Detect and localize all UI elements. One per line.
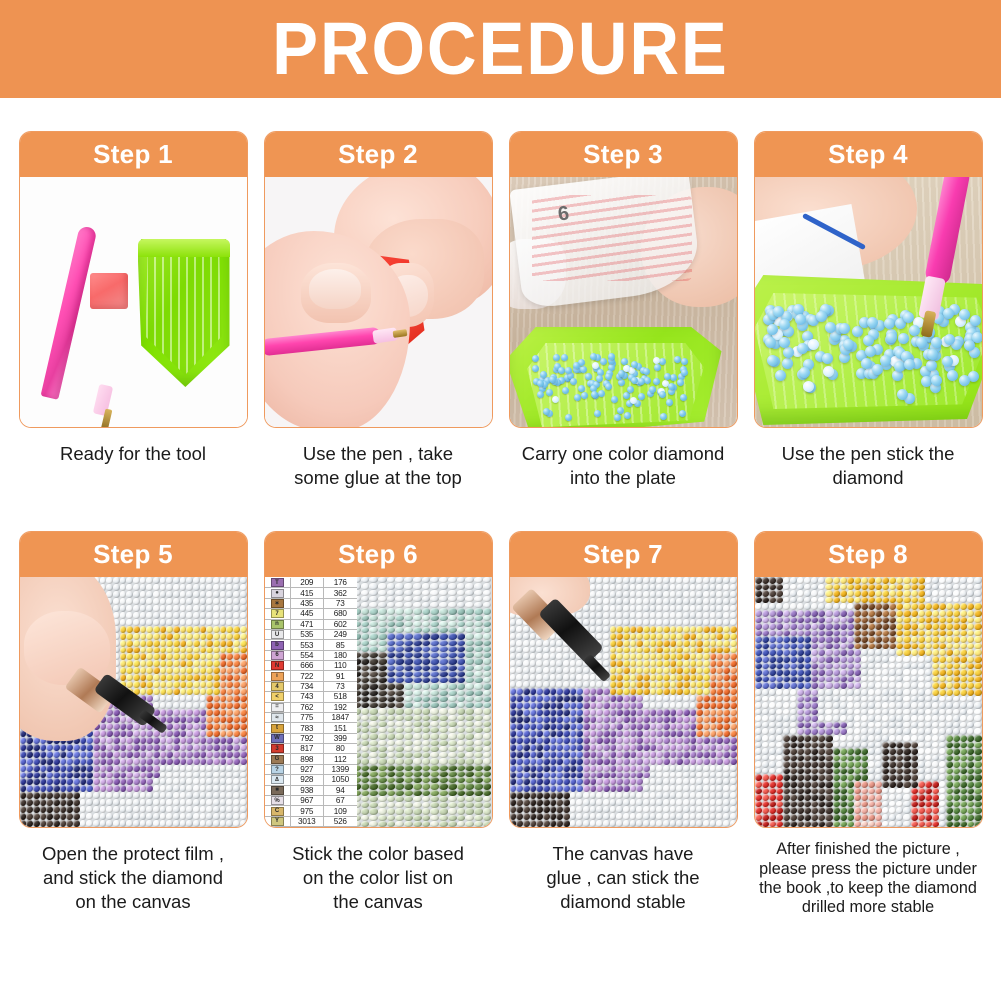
step-1-photo <box>20 177 247 427</box>
legend-count-cell: 109 <box>324 806 357 815</box>
step-2-caption: Use the pen , take some glue at the top <box>264 442 492 490</box>
step-4-header-label: Step 4 <box>828 139 908 170</box>
step-3-card: Step 3 6 <box>509 131 738 428</box>
legend-count-cell: 94 <box>324 786 357 795</box>
legend-row: ≈7751847 <box>265 713 357 723</box>
step-7-caption: The canvas have glue , can stick the dia… <box>509 842 737 914</box>
step-card-2: Step 2 Use the pen , <box>256 131 501 490</box>
legend-symbol-cell: G <box>265 754 291 763</box>
legend-count-cell: 180 <box>324 651 357 660</box>
legend-count-cell: 176 <box>324 578 357 587</box>
step-7-header-label: Step 7 <box>583 539 663 570</box>
legend-row: G898112 <box>265 754 357 764</box>
legend-code-cell: 743 <box>291 692 325 701</box>
page-title: PROCEDURE <box>272 12 728 86</box>
finger-icon <box>24 611 110 685</box>
legend-symbol-cell: T <box>265 578 291 587</box>
legend-symbol-cell: Y <box>265 817 291 826</box>
step-2-photo <box>265 177 492 427</box>
legend-code-cell: 553 <box>291 640 325 649</box>
legend-count-cell: 73 <box>324 599 357 608</box>
legend-code-cell: 927 <box>291 765 325 774</box>
step-1-header-label: Step 1 <box>93 139 173 170</box>
step-6-caption: Stick the color based on the color list … <box>264 842 492 914</box>
legend-symbol-cell: 7 <box>265 609 291 618</box>
pink-pen-icon <box>40 225 97 400</box>
legend-symbol-cell: ≈ <box>265 713 291 722</box>
legend-code-cell: 3013 <box>291 817 325 826</box>
bag-printed-text-icon <box>532 195 692 281</box>
legend-row: %96767 <box>265 796 357 806</box>
legend-row: ●415362 <box>265 588 357 598</box>
step-8-card: Step 8 <box>754 531 983 828</box>
legend-count-cell: 80 <box>324 744 357 753</box>
legend-code-cell: 975 <box>291 806 325 815</box>
step-7-header: Step 7 <box>510 532 737 577</box>
step-7-photo <box>510 577 737 827</box>
legend-symbol-cell: C <box>265 806 291 815</box>
glue-square-icon <box>90 273 128 309</box>
legend-count-cell: 151 <box>324 723 357 732</box>
step-5-photo <box>20 577 247 827</box>
legend-row: 6554180 <box>265 651 357 661</box>
step-6-header: Step 6 <box>265 532 492 577</box>
step-2-header: Step 2 <box>265 132 492 177</box>
tray-grooves-icon <box>755 293 982 409</box>
step-3-header-label: Step 3 <box>583 139 663 170</box>
legend-row: ?9271399 <box>265 765 357 775</box>
legend-row: ∆9281050 <box>265 775 357 785</box>
legend-code-cell: 209 <box>291 578 325 587</box>
legend-code-cell: 722 <box>291 671 325 680</box>
step-1-image <box>20 177 247 427</box>
legend-count-cell: 192 <box>324 703 357 712</box>
legend-symbol-cell: U <box>265 630 291 639</box>
step-4-image <box>755 177 982 427</box>
legend-row: ✶43573 <box>265 599 357 609</box>
step-6-card: Step 6 T209176●415362✶435737445680n47160… <box>264 531 493 828</box>
legend-row: ı72291 <box>265 671 357 681</box>
step-card-6: Step 6 T209176●415362✶435737445680n47160… <box>256 531 501 918</box>
legend-symbol-cell: ∆ <box>265 775 291 784</box>
legend-count-cell: 526 <box>324 817 357 826</box>
legend-code-cell: 792 <box>291 734 325 743</box>
step-8-photo <box>755 577 982 827</box>
legend-code-cell: 775 <box>291 713 325 722</box>
legend-symbol-cell: ● <box>265 588 291 597</box>
step-4-caption: Use the pen stick the diamond <box>754 442 982 490</box>
step-7-image <box>510 577 737 827</box>
legend-count-cell: 110 <box>324 661 357 670</box>
legend-row: Y3013526 <box>265 817 357 827</box>
legend-code-cell: 415 <box>291 588 325 597</box>
legend-symbol-cell: < <box>265 692 291 701</box>
legend-code-cell: 554 <box>291 651 325 660</box>
legend-count-cell: 249 <box>324 630 357 639</box>
legend-symbol-cell: b <box>265 640 291 649</box>
legend-row: b55385 <box>265 640 357 650</box>
legend-count-cell: 85 <box>324 640 357 649</box>
mosaic-canvas <box>755 577 982 827</box>
legend-count-cell: 91 <box>324 671 357 680</box>
legend-code-cell: 783 <box>291 723 325 732</box>
step-card-7: Step 7 The canvas have glue , can stick … <box>501 531 746 918</box>
legend-count-cell: 1399 <box>324 765 357 774</box>
step-6-image: T209176●415362✶435737445680n471602U53524… <box>265 577 492 827</box>
legend-count-cell: 518 <box>324 692 357 701</box>
legend-row: 7445680 <box>265 609 357 619</box>
step-card-3: Step 3 6 Carry one color diamond into th… <box>501 131 746 490</box>
bag-number-label: 6 <box>556 202 570 226</box>
legend-row: C975109 <box>265 806 357 816</box>
legend-symbol-cell: ■ <box>265 786 291 795</box>
legend-code-cell: 817 <box>291 744 325 753</box>
tray-grooves-icon <box>524 343 708 427</box>
step-4-photo <box>755 177 982 427</box>
step-1-card: Step 1 <box>19 131 248 428</box>
legend-symbol-cell: % <box>265 796 291 805</box>
legend-symbol-cell: 6 <box>265 651 291 660</box>
legend-count-cell: 67 <box>324 796 357 805</box>
page-header-banner: PROCEDURE <box>0 0 1001 98</box>
legend-code-cell: 928 <box>291 775 325 784</box>
step-8-caption: After finished the picture , please pres… <box>748 840 988 918</box>
legend-code-cell: 666 <box>291 661 325 670</box>
legend-count-cell: 602 <box>324 620 357 629</box>
legend-symbol-cell: ✶ <box>265 599 291 608</box>
step-3-image: 6 <box>510 177 737 427</box>
step-5-image <box>20 577 247 827</box>
step-5-caption: Open the protect film , and stick the di… <box>19 842 247 914</box>
step-2-header-label: Step 2 <box>338 139 418 170</box>
legend-row: 381780 <box>265 744 357 754</box>
step-card-5: Step 5 Open the protect film , and stick… <box>11 531 256 918</box>
step-2-card: Step 2 <box>264 131 493 428</box>
step-5-header: Step 5 <box>20 532 247 577</box>
legend-count-cell: 680 <box>324 609 357 618</box>
legend-symbol-cell: ı <box>265 671 291 680</box>
legend-code-cell: 435 <box>291 599 325 608</box>
steps-row-bottom: Step 5 Open the protect film , and stick… <box>0 531 1001 918</box>
color-legend-table: T209176●415362✶435737445680n471602U53524… <box>265 577 357 827</box>
step-2-image <box>265 177 492 427</box>
legend-code-cell: 967 <box>291 796 325 805</box>
step-3-photo: 6 <box>510 177 737 427</box>
legend-count-cell: 73 <box>324 682 357 691</box>
steps-row-top: Step 1 Ready for the tool Step 2 <box>0 131 1001 490</box>
step-7-card: Step 7 <box>509 531 738 828</box>
legend-symbol-cell: n <box>265 620 291 629</box>
legend-row: T209176 <box>265 578 357 588</box>
step-8-header-label: Step 8 <box>828 539 908 570</box>
step-card-8: Step 8 After finished the picture , plea… <box>746 531 991 918</box>
legend-symbol-cell: N <box>265 661 291 670</box>
legend-row: ■93894 <box>265 786 357 796</box>
legend-count-cell: 1050 <box>324 775 357 784</box>
step-8-header: Step 8 <box>755 532 982 577</box>
legend-count-cell: 112 <box>324 754 357 763</box>
legend-symbol-cell: 3 <box>265 744 291 753</box>
legend-row: N666110 <box>265 661 357 671</box>
legend-code-cell: 734 <box>291 682 325 691</box>
step-6-header-label: Step 6 <box>338 539 418 570</box>
legend-code-cell: 938 <box>291 786 325 795</box>
legend-row: U535249 <box>265 630 357 640</box>
legend-symbol-cell: t <box>265 723 291 732</box>
legend-count-cell: 399 <box>324 734 357 743</box>
legend-symbol-cell: ? <box>265 765 291 774</box>
legend-code-cell: 471 <box>291 620 325 629</box>
legend-row: 473473 <box>265 682 357 692</box>
step-card-1: Step 1 Ready for the tool <box>11 131 256 490</box>
legend-symbol-cell: 4 <box>265 682 291 691</box>
step-8-image <box>755 577 982 827</box>
legend-row: t783151 <box>265 723 357 733</box>
step-5-header-label: Step 5 <box>93 539 173 570</box>
left-fingernail-icon <box>309 269 361 309</box>
legend-row: =762192 <box>265 703 357 713</box>
legend-row: n471602 <box>265 620 357 630</box>
legend-code-cell: 445 <box>291 609 325 618</box>
step-5-card: Step 5 <box>19 531 248 828</box>
legend-code-cell: 762 <box>291 703 325 712</box>
step-3-header: Step 3 <box>510 132 737 177</box>
step-1-header: Step 1 <box>20 132 247 177</box>
step-6-photo: T209176●415362✶435737445680n471602U53524… <box>265 577 492 827</box>
step-1-caption: Ready for the tool <box>19 442 247 466</box>
legend-count-cell: 362 <box>324 588 357 597</box>
legend-code-cell: 535 <box>291 630 325 639</box>
step-card-4: Step 4 Use the pen stick the diamond <box>746 131 991 490</box>
legend-row: W792399 <box>265 734 357 744</box>
legend-row: <743518 <box>265 692 357 702</box>
legend-code-cell: 898 <box>291 754 325 763</box>
legend-symbol-cell: = <box>265 703 291 712</box>
tray-rim-icon <box>138 239 230 257</box>
step-4-header: Step 4 <box>755 132 982 177</box>
legend-count-cell: 1847 <box>324 713 357 722</box>
step-3-caption: Carry one color diamond into the plate <box>509 442 737 490</box>
legend-symbol-cell: W <box>265 734 291 743</box>
step-4-card: Step 4 <box>754 131 983 428</box>
